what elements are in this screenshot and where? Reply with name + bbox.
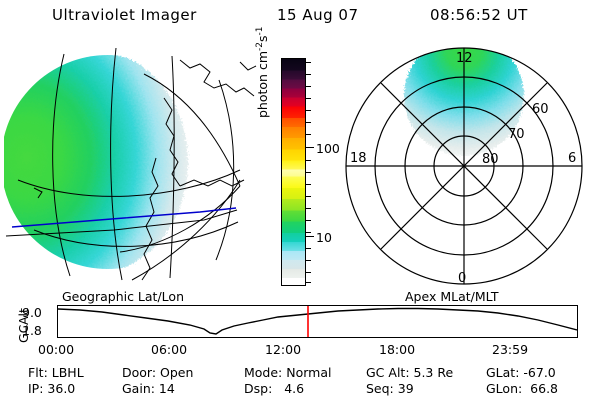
globe-svg — [4, 40, 262, 292]
observation-date: 15 Aug 07 — [277, 6, 359, 24]
orbit-svg — [58, 306, 577, 337]
orbit-xtick-4: 23:59 — [492, 342, 528, 357]
geographic-globe-plot — [4, 40, 262, 292]
status-gc-alt: GC Alt: 5.3 Re — [366, 365, 453, 380]
mlt-label-18: 18 — [350, 151, 367, 166]
colorbar-unit-s: s — [255, 36, 270, 43]
status-glat: GLat: -67.0 — [486, 365, 556, 380]
polar-svg: 12 18 6 0 60 70 80 — [336, 40, 596, 292]
apex-polar-plot: 12 18 6 0 60 70 80 — [336, 40, 596, 292]
right-panel-title: Apex MLat/MLT — [405, 289, 499, 304]
orbit-altitude-plot — [57, 305, 578, 338]
status-gain: Gain: 14 — [122, 381, 175, 396]
orbit-y-axis-label: Alt GC — [2, 303, 20, 341]
mlat-label-60: 60 — [532, 102, 549, 117]
colorbar-gradient — [282, 59, 305, 285]
mlat-label-70: 70 — [508, 127, 525, 142]
orbit-xtick-3: 18:00 — [379, 342, 415, 357]
orbit-altitude-curve — [58, 309, 577, 335]
status-dsp: Dsp: 4.6 — [244, 381, 304, 396]
mlt-spokes — [346, 48, 582, 284]
status-seq: Seq: 39 — [366, 381, 414, 396]
status-ip: IP: 36.0 — [28, 381, 75, 396]
colorbar-ticks — [306, 58, 314, 286]
mlt-label-12: 12 — [456, 51, 473, 66]
colorbar-unit-text: photon cm — [255, 51, 270, 118]
orbit-xtick-0: 00:00 — [38, 342, 74, 357]
mlt-label-6: 6 — [568, 151, 576, 166]
observation-time: 08:56:52 UT — [430, 6, 528, 24]
colorbar-axis-label: photon cm-2s-1 — [255, 27, 270, 118]
colorbar-tick-10: 10 — [316, 230, 332, 245]
orbit-ytick-high: 9.0 — [22, 305, 42, 320]
colorbar — [281, 58, 306, 286]
status-mode: Mode: Normal — [244, 365, 331, 380]
orbit-xtick-2: 12:00 — [265, 342, 301, 357]
uvi-display: Ultraviolet Imager 15 Aug 07 08:56:52 UT — [0, 0, 600, 400]
colorbar-unit-exp2: -1 — [255, 27, 265, 36]
status-glon: GLon: 66.8 — [486, 381, 558, 396]
mlat-label-80: 80 — [482, 152, 499, 167]
colorbar-unit-exp1: -2 — [255, 42, 265, 51]
status-door: Door: Open — [122, 365, 193, 380]
orbit-ytick-low: 1.8 — [22, 323, 42, 338]
left-panel-title: Geographic Lat/Lon — [62, 289, 184, 304]
status-filter: Flt: LBHL — [28, 365, 84, 380]
instrument-title: Ultraviolet Imager — [52, 6, 197, 24]
mlt-label-0: 0 — [458, 271, 466, 286]
orbit-xtick-1: 06:00 — [151, 342, 187, 357]
